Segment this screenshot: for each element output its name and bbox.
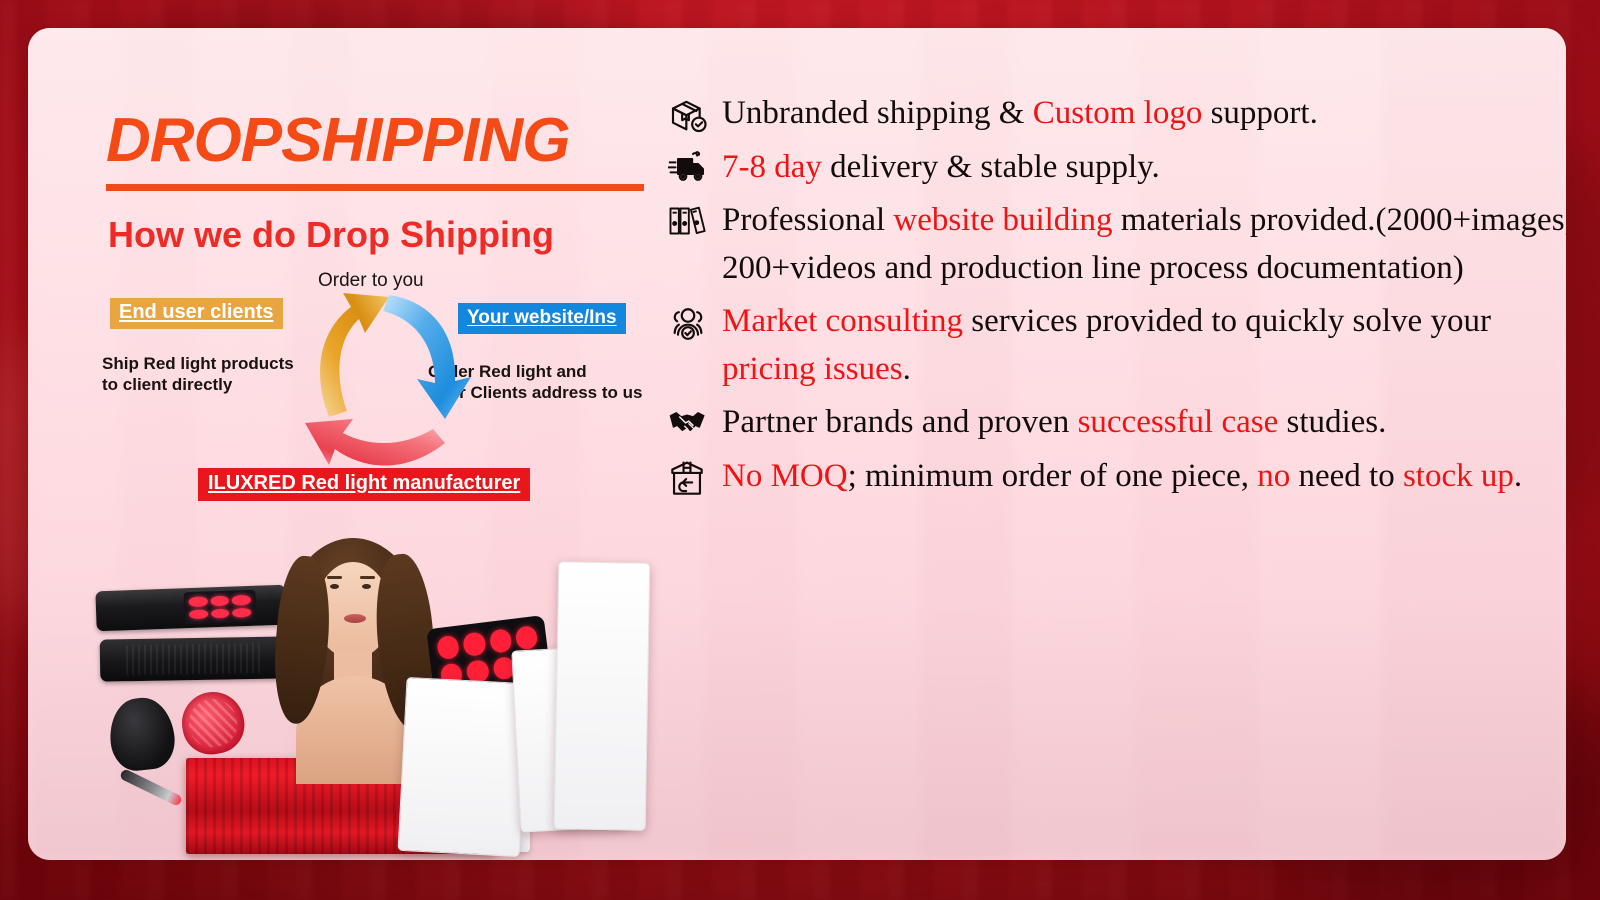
highlight-text: successful case <box>1078 404 1279 440</box>
red-light-belt-plain <box>100 636 291 681</box>
red-light-wand <box>119 768 183 807</box>
model-eye <box>330 584 339 589</box>
feature-row: Professional website building materials … <box>668 197 1566 292</box>
red-light-belt-with-pads <box>95 585 286 632</box>
led-panel-small <box>398 677 529 857</box>
highlight-text: no <box>1257 458 1290 494</box>
highlight-text: stock up <box>1403 458 1514 494</box>
body-text: Unbranded shipping & <box>722 95 1033 131</box>
model-lips <box>344 614 366 623</box>
feature-row: Unbranded shipping & Custom logo support… <box>668 90 1566 138</box>
highlight-text: No MOQ <box>722 458 848 494</box>
binders-icon <box>668 197 722 239</box>
model-eye <box>362 584 371 589</box>
highlight-text: Custom logo <box>1033 95 1203 131</box>
body-text: services provided to quickly solve your <box>963 303 1491 339</box>
feature-text: Partner brands and proven successful cas… <box>722 399 1386 447</box>
cycle-arrows <box>285 267 495 502</box>
body-text: . <box>903 351 911 387</box>
feature-row: No MOQ; minimum order of one piece, no n… <box>668 453 1566 501</box>
delivery-truck-icon <box>668 144 722 188</box>
feature-text: Professional website building materials … <box>722 197 1566 292</box>
dropshipping-flow-diagram: End user clients Your website/Ins ILUXRE… <box>80 273 665 523</box>
people-check-icon <box>668 298 722 342</box>
red-light-cap <box>106 695 177 773</box>
body-text: Professional <box>722 202 893 238</box>
feature-text: 7-8 day delivery & stable supply. <box>722 144 1160 192</box>
model-brow <box>360 576 375 579</box>
handshake-icon <box>668 399 722 439</box>
feature-row: Partner brands and proven successful cas… <box>668 399 1566 447</box>
model-brow <box>327 576 342 579</box>
feature-text: Market consulting services provided to q… <box>722 298 1566 393</box>
flow-label-ship-line1: Ship Red light products <box>102 353 294 374</box>
badge-end-user-clients: End user clients <box>110 298 283 329</box>
left-column: DROPSHIPPING How we do Drop Shipping End… <box>80 68 665 858</box>
feature-list: Unbranded shipping & Custom logo support… <box>668 90 1566 506</box>
product-collage <box>86 530 664 852</box>
page-title: DROPSHIPPING <box>106 110 646 172</box>
body-text: need to <box>1290 458 1403 494</box>
feature-text: Unbranded shipping & Custom logo support… <box>722 90 1318 138</box>
page-subtitle: How we do Drop Shipping <box>108 214 648 256</box>
led-pad-cluster <box>183 590 256 624</box>
body-text: Partner brands and proven <box>722 404 1078 440</box>
highlight-text: Market consulting <box>722 303 963 339</box>
body-text: delivery & stable supply. <box>822 149 1160 185</box>
flow-label-ship-to-client: Ship Red light products to client direct… <box>102 353 294 396</box>
title-underline <box>106 184 644 191</box>
highlight-text: website building <box>893 202 1112 238</box>
body-text: . <box>1514 458 1522 494</box>
flow-label-ship-line2: to client directly <box>102 374 294 395</box>
arrow-blue <box>383 295 471 419</box>
led-panel-large <box>554 561 651 831</box>
arrow-red <box>305 419 445 466</box>
red-light-mitt <box>177 687 249 759</box>
box-return-icon <box>668 453 722 499</box>
arrow-gold <box>320 293 389 417</box>
highlight-text: 7-8 day <box>722 149 822 185</box>
banner-root: DROPSHIPPING How we do Drop Shipping End… <box>0 0 1600 900</box>
content-card: DROPSHIPPING How we do Drop Shipping End… <box>28 28 1566 860</box>
body-text: support. <box>1202 95 1318 131</box>
body-text: studies. <box>1278 404 1386 440</box>
feature-text: No MOQ; minimum order of one piece, no n… <box>722 453 1522 501</box>
body-text: ; minimum order of one piece, <box>848 458 1258 494</box>
feature-row: Market consulting services provided to q… <box>668 298 1566 393</box>
highlight-text: pricing issues <box>722 351 903 387</box>
package-check-icon <box>668 90 722 136</box>
feature-row: 7-8 day delivery & stable supply. <box>668 144 1566 192</box>
